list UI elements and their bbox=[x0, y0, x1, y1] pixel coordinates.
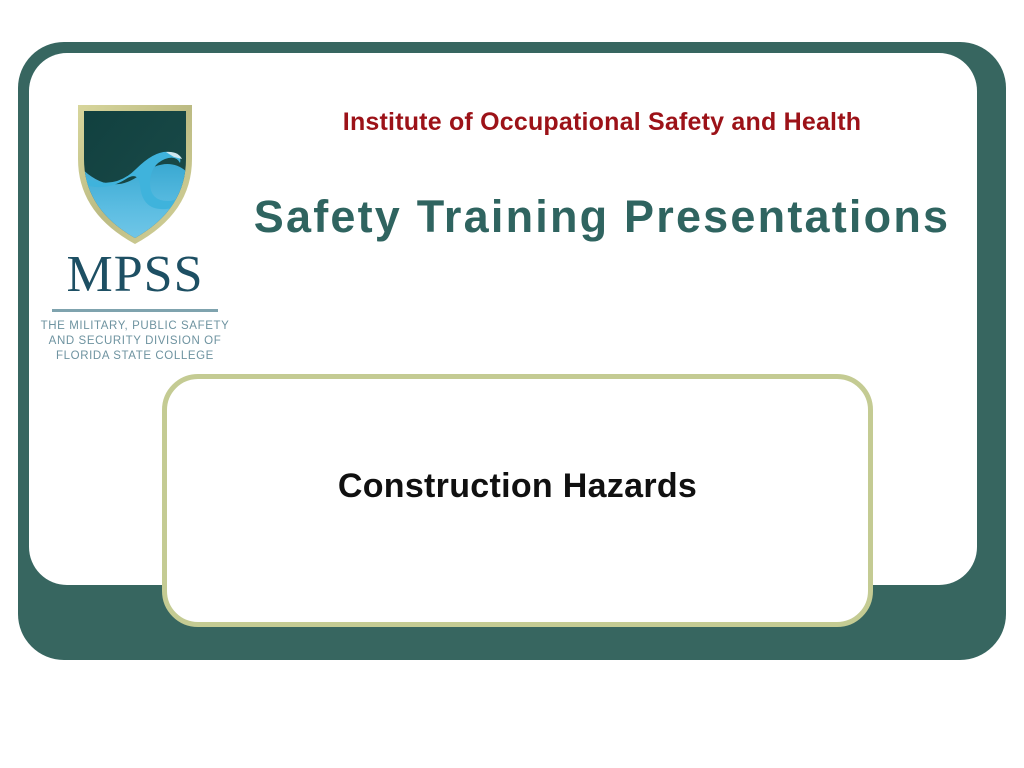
topic-box: Construction Hazards bbox=[162, 374, 873, 627]
logo-wordmark: MPSS bbox=[40, 249, 230, 301]
mpss-shield-wave-icon bbox=[70, 97, 200, 247]
page-title: Safety Training Presentations bbox=[232, 191, 972, 243]
logo-divider bbox=[52, 309, 218, 312]
mpss-logo: MPSS THE MILITARY, PUBLIC SAFETY AND SEC… bbox=[40, 97, 230, 365]
topic-label: Construction Hazards bbox=[167, 467, 868, 506]
logo-tagline: THE MILITARY, PUBLIC SAFETY AND SECURITY… bbox=[40, 319, 230, 365]
logo-tagline-line-2: AND SECURITY DIVISION OF bbox=[40, 334, 230, 349]
logo-tagline-line-1: THE MILITARY, PUBLIC SAFETY bbox=[40, 319, 230, 334]
institute-heading: Institute of Occupational Safety and Hea… bbox=[232, 108, 972, 137]
presentation-slide: MPSS THE MILITARY, PUBLIC SAFETY AND SEC… bbox=[0, 0, 1024, 768]
logo-tagline-line-3: FLORIDA STATE COLLEGE bbox=[40, 349, 230, 364]
